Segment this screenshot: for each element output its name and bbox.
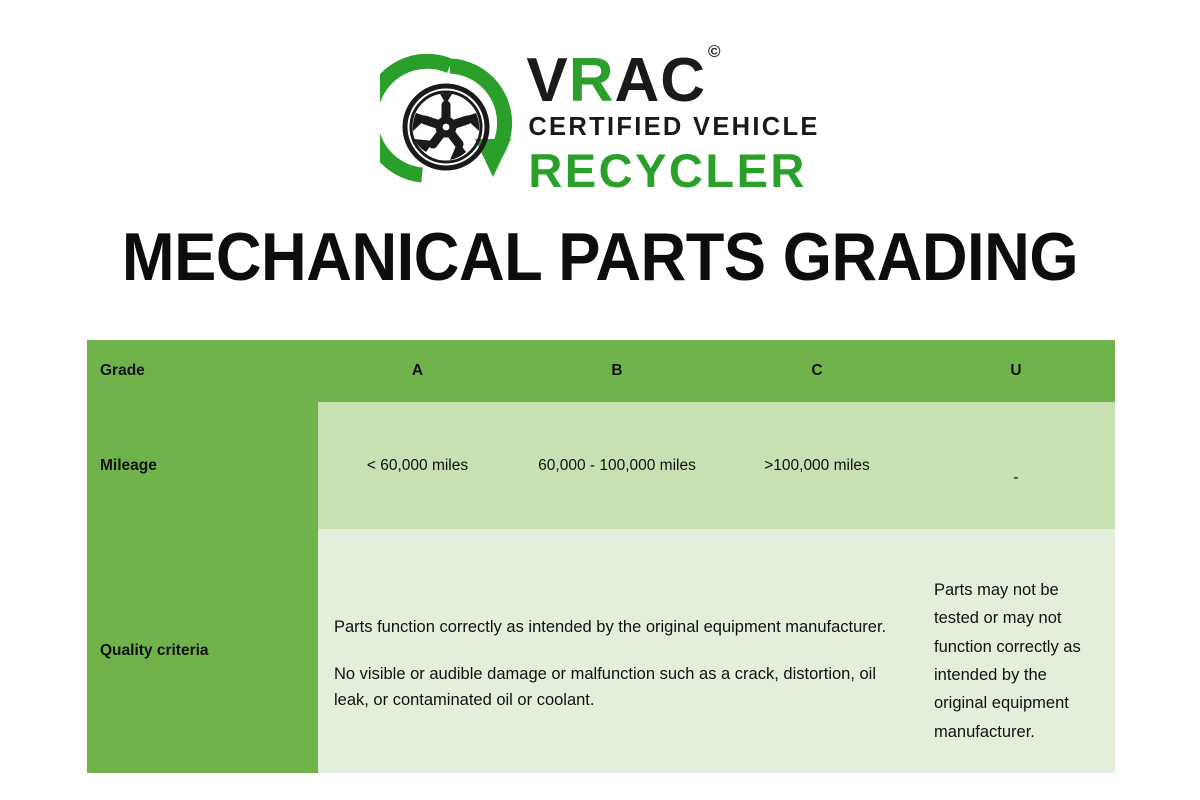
logo-tagline: RECYCLER xyxy=(528,143,819,198)
mileage-grade-c: >100,000 miles xyxy=(717,402,917,529)
mechanical-parts-grading-table: Grade A B C U Mileage < 60,000 miles 60,… xyxy=(87,340,1115,773)
brand-logo: VRAC© CERTIFIED VEHICLE RECYCLER xyxy=(0,48,1200,203)
mileage-grade-u: - xyxy=(917,402,1115,529)
logo-letter-v: V xyxy=(526,46,568,115)
table-row-quality-criteria: Quality criteria Parts function correctl… xyxy=(87,529,1115,773)
logo-letter-r: R xyxy=(569,46,615,115)
table-row-mileage: Mileage < 60,000 miles 60,000 - 100,000 … xyxy=(87,402,1115,529)
mileage-grade-a: < 60,000 miles xyxy=(318,402,517,529)
quality-paragraph-2: No visible or audible damage or malfunct… xyxy=(334,661,901,714)
logo-wordmark: VRAC© CERTIFIED VEHICLE RECYCLER xyxy=(526,48,819,198)
logo-inner: VRAC© CERTIFIED VEHICLE RECYCLER xyxy=(380,48,819,198)
quality-paragraph-1: Parts function correctly as intended by … xyxy=(334,614,901,641)
paragraph-spacer xyxy=(334,641,901,661)
recycling-wheel-logo-icon xyxy=(380,53,520,193)
logo-letters-ac: AC xyxy=(614,46,706,115)
mileage-grade-b: 60,000 - 100,000 miles xyxy=(517,402,717,529)
logo-subtitle: CERTIFIED VEHICLE xyxy=(528,113,819,142)
copyright-icon: © xyxy=(708,42,722,61)
header-grade-u: U xyxy=(917,340,1115,402)
quality-criteria-grades-abc: Parts function correctly as intended by … xyxy=(318,529,917,773)
row-label-quality-criteria: Quality criteria xyxy=(87,529,318,773)
header-grade-c: C xyxy=(717,340,917,402)
header-grade-a: A xyxy=(318,340,517,402)
quality-criteria-grade-u: Parts may not be tested or may not funct… xyxy=(917,529,1115,773)
header-grade-b: B xyxy=(517,340,717,402)
header-grade-label: Grade xyxy=(87,340,318,402)
page-title: MECHANICAL PARTS GRADING xyxy=(42,218,1158,296)
table-header-row: Grade A B C U xyxy=(87,340,1115,402)
logo-brand-line: VRAC© xyxy=(526,52,819,111)
row-label-mileage: Mileage xyxy=(87,402,318,529)
